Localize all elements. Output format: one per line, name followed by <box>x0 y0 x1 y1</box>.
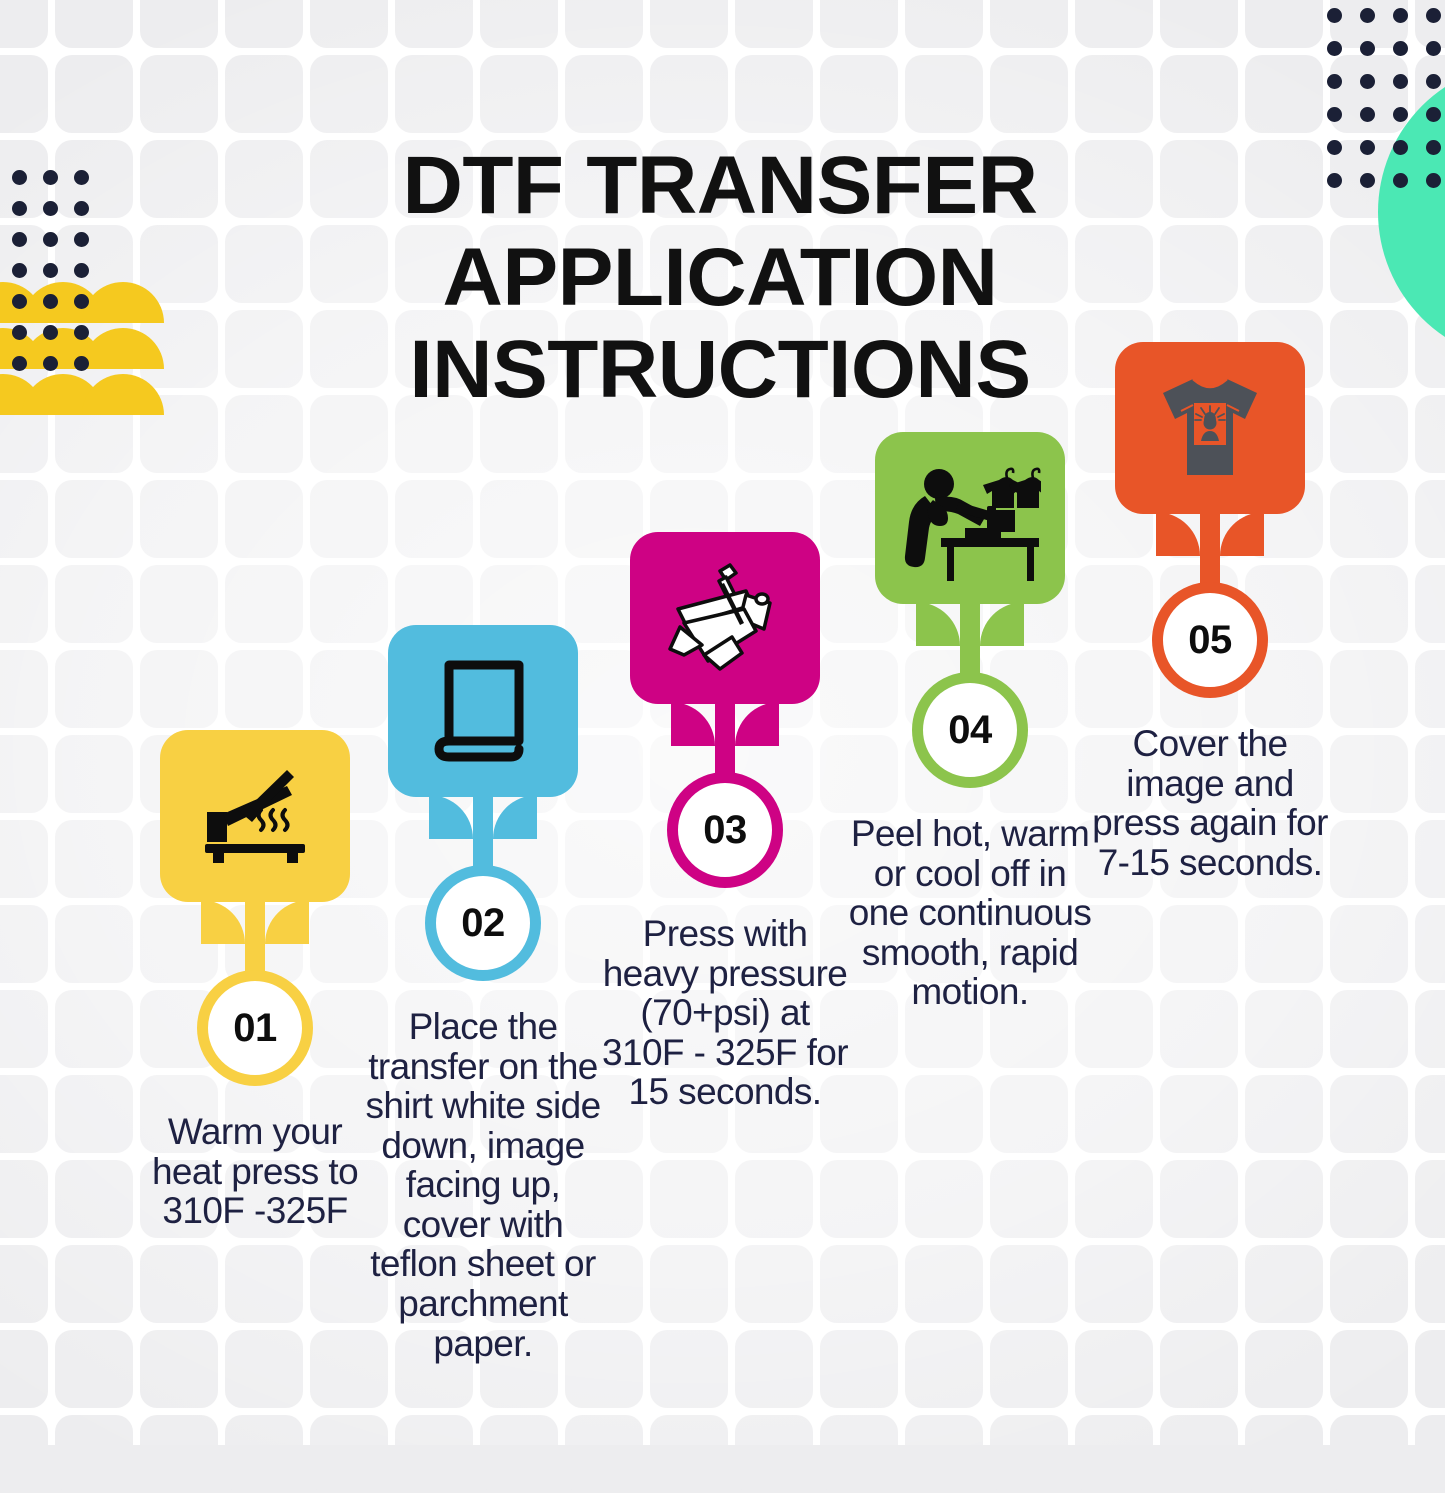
step-01-number: 01 <box>233 1006 277 1051</box>
operator-pressing-shirt-icon <box>899 454 1041 582</box>
step-04: 04 Peel hot, warm or cool off in one con… <box>845 432 1095 1012</box>
step-04-number: 04 <box>948 708 992 753</box>
step-03-number: 03 <box>703 808 747 853</box>
heat-press-open-icon <box>195 768 315 864</box>
step-02-number: 02 <box>461 901 505 946</box>
page-title: DTF TRANSFER APPLICATION INSTRUCTIONS <box>128 140 1311 415</box>
step-02-icon-card <box>388 625 578 797</box>
step-01-number-badge: 01 <box>197 970 313 1086</box>
step-04-caption: Peel hot, warm or cool off in one contin… <box>845 814 1095 1012</box>
step-03: 03 Press with heavy pressure (70+psi) at… <box>600 532 850 1112</box>
step-03-caption: Press with heavy pressure (70+psi) at 31… <box>600 914 850 1112</box>
step-04-icon-card <box>875 432 1065 604</box>
step-01: 01 Warm your heat press to 310F -325F <box>130 730 380 1231</box>
page-title-line-2: INSTRUCTIONS <box>128 324 1311 416</box>
step-05-caption: Cover the image and press again for 7-15… <box>1085 724 1335 882</box>
step-03-icon-card <box>630 532 820 704</box>
page-title-line-1: DTF TRANSFER APPLICATION <box>128 140 1311 324</box>
step-05: 05 Cover the image and press again for 7… <box>1085 342 1335 882</box>
heat-press-machine-icon <box>660 557 790 679</box>
step-04-number-badge: 04 <box>912 672 1028 788</box>
step-01-caption: Warm your heat press to 310F -325F <box>130 1112 380 1231</box>
transfer-sheet-icon <box>423 655 543 767</box>
step-05-number: 05 <box>1188 618 1232 663</box>
step-01-icon-card <box>160 730 350 902</box>
step-03-number-badge: 03 <box>667 772 783 888</box>
step-02-number-badge: 02 <box>425 865 541 981</box>
step-02: 02 Place the transfer on the shirt white… <box>358 625 608 1363</box>
step-02-caption: Place the transfer on the shirt white si… <box>358 1007 608 1363</box>
step-05-number-badge: 05 <box>1152 582 1268 698</box>
